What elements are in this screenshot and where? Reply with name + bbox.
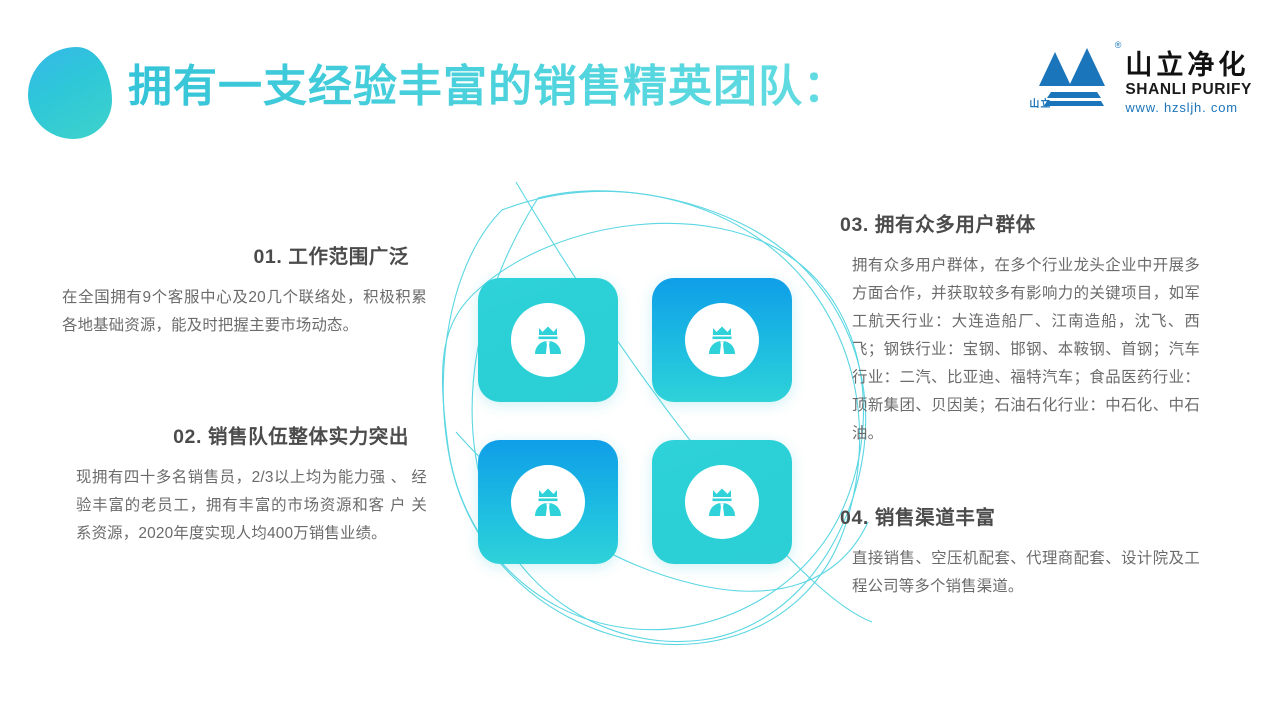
- block-02-body: 现拥有四十多名销售员，2/3以上均为能力强 、 经验丰富的老员工，拥有丰富的市场…: [62, 464, 427, 548]
- registered-trademark-icon: ®: [1115, 40, 1122, 50]
- company-logo: ® 山立 山立净化 SHANLI PURIFY www. hzsljh. com: [1025, 38, 1252, 116]
- tile-grid: [478, 278, 792, 564]
- mountain-logo-icon: ® 山立: [1025, 38, 1117, 112]
- tile-3-circle: [511, 465, 585, 539]
- tile-3[interactable]: [478, 440, 618, 564]
- logo-name-cn: 山立净化: [1125, 50, 1252, 80]
- tile-1-circle: [511, 303, 585, 377]
- crowned-person-icon: [527, 319, 569, 361]
- tile-4[interactable]: [652, 440, 792, 564]
- content-block-01: 01. 工作范围广泛 在全国拥有9个客服中心及20几个联络处，积极积累各地基础资…: [62, 244, 427, 340]
- content-block-03: 03. 拥有众多用户群体 拥有众多用户群体，在多个行业龙头企业中开展多方面合作，…: [840, 212, 1200, 448]
- blob-decoration-icon: [28, 47, 112, 139]
- block-01-heading: 01. 工作范围广泛: [62, 244, 427, 270]
- logo-mark-caption: 山立: [1029, 95, 1051, 110]
- block-01-body: 在全国拥有9个客服中心及20几个联络处，积极积累各地基础资源，能及时把握主要市场…: [62, 284, 427, 340]
- slide-root: 拥有一支经验丰富的销售精英团队： ® 山立 山立净化 SHANLI PURIFY…: [0, 0, 1280, 720]
- logo-name-en: SHANLI PURIFY: [1125, 80, 1252, 99]
- tile-2-circle: [685, 303, 759, 377]
- block-03-heading: 03. 拥有众多用户群体: [840, 212, 1200, 238]
- block-03-body: 拥有众多用户群体，在多个行业龙头企业中开展多方面合作，并获取较多有影响力的关键项…: [840, 252, 1200, 448]
- block-04-heading: 04. 销售渠道丰富: [840, 505, 1200, 531]
- tile-4-circle: [685, 465, 759, 539]
- tile-1[interactable]: [478, 278, 618, 402]
- block-02-heading: 02. 销售队伍整体实力突出: [62, 424, 427, 450]
- crowned-person-icon: [701, 481, 743, 523]
- center-graphic: [420, 170, 890, 660]
- content-block-04: 04. 销售渠道丰富 直接销售、空压机配套、代理商配套、设计院及工程公司等多个销…: [840, 505, 1200, 601]
- content-block-02: 02. 销售队伍整体实力突出 现拥有四十多名销售员，2/3以上均为能力强 、 经…: [62, 424, 427, 548]
- page-title: 拥有一支经验丰富的销售精英团队：: [128, 55, 848, 119]
- logo-text-group: 山立净化 SHANLI PURIFY www. hzsljh. com: [1125, 38, 1252, 116]
- logo-website-url: www. hzsljh. com: [1125, 99, 1252, 116]
- tile-2[interactable]: [652, 278, 792, 402]
- block-04-body: 直接销售、空压机配套、代理商配套、设计院及工程公司等多个销售渠道。: [840, 545, 1200, 601]
- crowned-person-icon: [527, 481, 569, 523]
- crowned-person-icon: [701, 319, 743, 361]
